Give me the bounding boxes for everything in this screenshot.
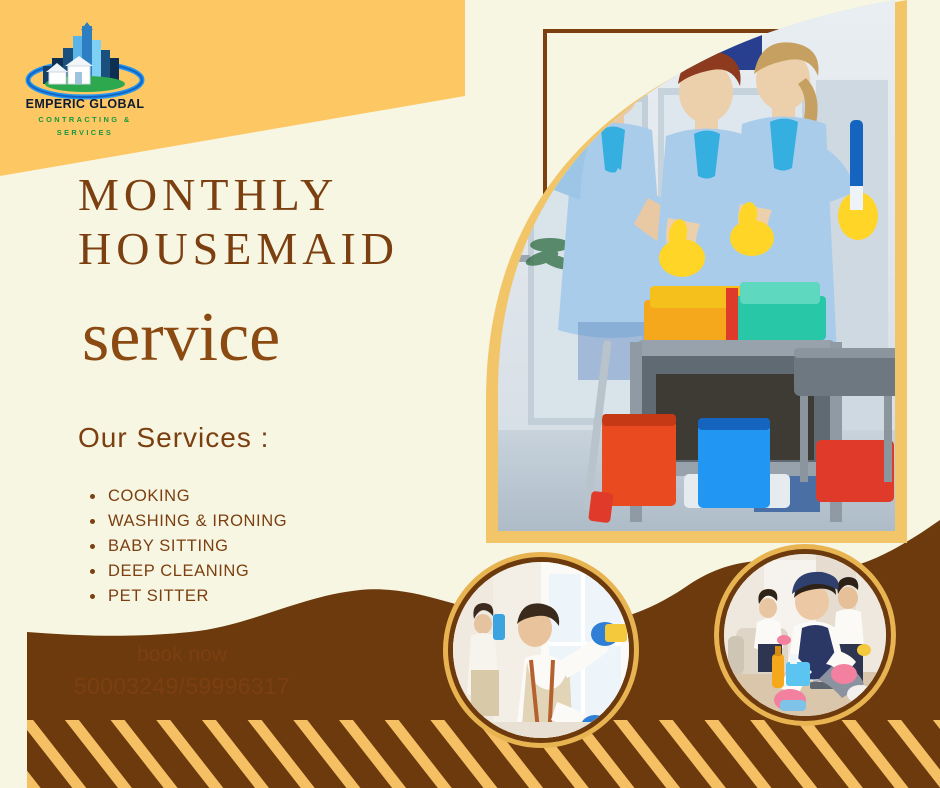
services-list: COOKING WASHING & IRONING BABY SITTING D…: [78, 484, 287, 609]
logo-subtitle-line1: CONTRACTING &: [10, 114, 160, 125]
phone-number[interactable]: 50003249/59996317: [62, 670, 302, 702]
svg-text:management: management: [650, 19, 724, 33]
book-now-label: book now: [62, 640, 302, 670]
svg-text:Center-: Center-: [650, 5, 692, 19]
logo-company-name: EMPERIC GLOBAL: [10, 98, 160, 112]
circle-right-photo-clip: [724, 554, 886, 716]
three-cleaning-staff-thumbs-up-photo: Center- management: [498, 0, 895, 531]
list-item: DEEP CLEANING: [108, 559, 287, 584]
headline-script-word: service: [82, 303, 399, 373]
circle-left-photo-clip: [453, 562, 629, 738]
circle-left-inner-ring: [448, 557, 634, 743]
list-item: COOKING: [108, 484, 287, 509]
man-cleaning-window-photo: [453, 562, 629, 738]
list-item: PET SITTER: [108, 584, 287, 609]
headline-line-1: MONTHLY: [78, 168, 399, 222]
woman-mopping-floor-photo: [724, 554, 886, 716]
circle-photo-right: [714, 544, 896, 726]
main-photo-container: Center- management: [486, 0, 907, 543]
booking-block: book now 50003249/59996317: [62, 640, 302, 702]
circle-right-inner-ring: [719, 549, 891, 721]
list-item: WASHING & IRONING: [108, 509, 287, 534]
logo-subtitle-line2: SERVICES: [10, 127, 160, 138]
headline-line-2: HOUSEMAID: [78, 222, 399, 276]
services-heading: Our Services :: [78, 422, 269, 454]
company-logo: EMPERIC GLOBAL CONTRACTING & SERVICES: [10, 22, 160, 142]
headline-block: MONTHLY HOUSEMAID service: [78, 168, 399, 373]
poster-canvas: EMPERIC GLOBAL CONTRACTING & SERVICES MO…: [0, 0, 940, 788]
list-item: BABY SITTING: [108, 534, 287, 559]
circle-photo-left: [443, 552, 639, 748]
city-skyline-house-icon: [10, 22, 160, 102]
main-photo: Center- management: [498, 0, 895, 531]
